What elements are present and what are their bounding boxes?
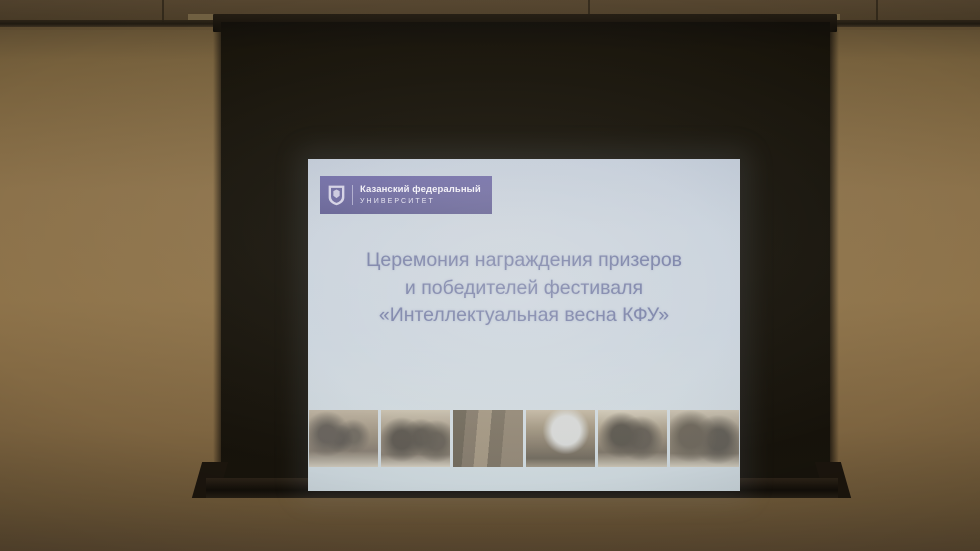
photo-vignette — [0, 0, 980, 551]
room-photo: Казанский федеральный УНИВЕРСИТЕТ Церемо… — [0, 0, 980, 551]
